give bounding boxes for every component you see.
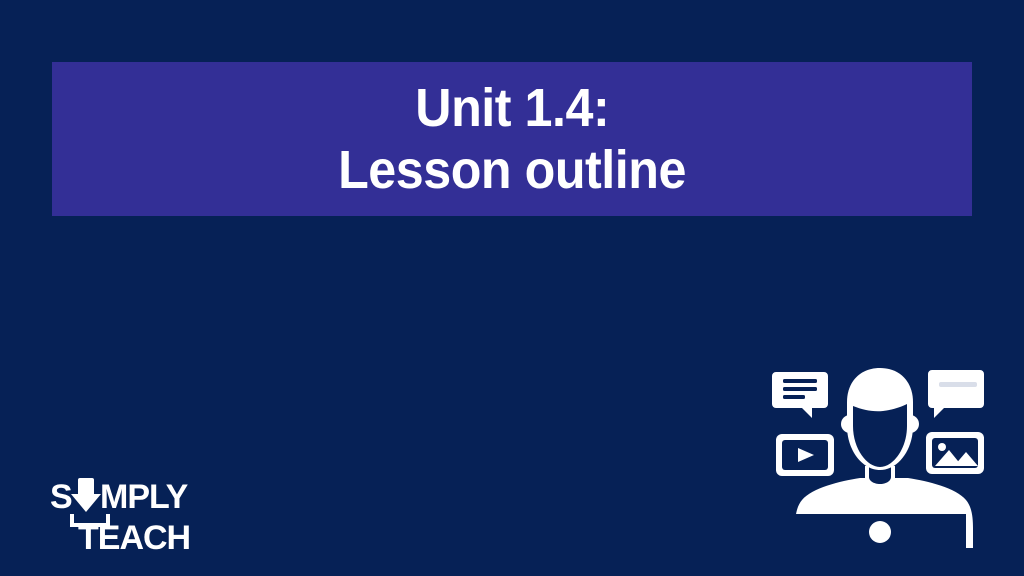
slide-canvas: Unit 1.4: Lesson outline S MPLY	[0, 0, 1024, 576]
chat-bubble-icon	[928, 370, 984, 418]
chat-bubble-lines-icon	[772, 372, 828, 418]
image-photo-icon	[926, 432, 984, 474]
brand-logo: S MPLY TEACH	[50, 476, 210, 552]
online-learner-illustration	[772, 362, 988, 556]
svg-text:MPLY: MPLY	[100, 478, 189, 516]
svg-text:TEACH: TEACH	[78, 519, 190, 552]
page-title-line-1: Unit 1.4:	[415, 77, 609, 139]
video-play-icon	[776, 434, 834, 476]
svg-text:S: S	[50, 478, 72, 516]
down-arrow-icon	[71, 478, 101, 512]
page-title-line-2: Lesson outline	[338, 139, 686, 201]
title-banner: Unit 1.4: Lesson outline	[52, 62, 972, 216]
